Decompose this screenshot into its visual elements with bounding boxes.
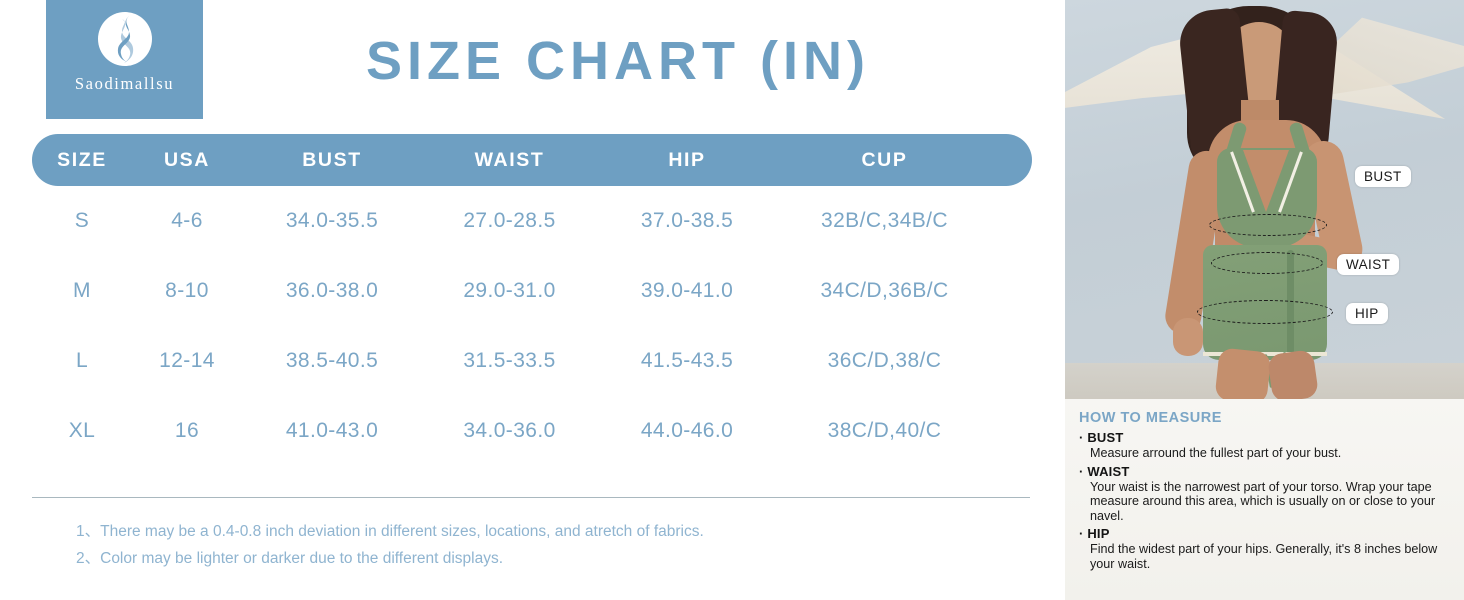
cell-hip: 39.0-41.0 [597, 279, 777, 303]
cell-usa: 4-6 [132, 209, 242, 233]
how-to-measure-section: HOW TO MEASURE · BUST Measure arround th… [1065, 399, 1464, 600]
measure-desc-waist: Your waist is the narrowest part of your… [1090, 480, 1450, 524]
cell-waist: 29.0-31.0 [422, 279, 597, 303]
measure-desc-bust: Measure arround the fullest part of your… [1090, 446, 1450, 461]
footnotes: 1、There may be a 0.4-0.8 inch deviation … [76, 518, 1016, 572]
column-header-bust: BUST [242, 149, 422, 172]
footnote-1: 1、There may be a 0.4-0.8 inch deviation … [76, 518, 1016, 545]
footnote-divider [32, 497, 1030, 498]
column-header-cup: CUP [777, 149, 992, 172]
callout-bust: BUST [1355, 166, 1411, 187]
table-header-row: SIZE USA BUST WAIST HIP CUP [32, 134, 1032, 186]
callout-hip: HIP [1346, 303, 1388, 324]
page-title: SIZE CHART (IN) [203, 28, 1033, 94]
bust-measure-line [1209, 214, 1327, 236]
cell-usa: 8-10 [132, 279, 242, 303]
measure-term-hip: · HIP [1079, 526, 1450, 541]
measure-guide-panel: BUST WAIST HIP HOW TO MEASURE · BUST Mea… [1065, 0, 1464, 600]
cell-cup: 32B/C,34B/C [777, 209, 992, 233]
column-header-usa: USA [132, 149, 242, 172]
table-row: XL 16 41.0-43.0 34.0-36.0 44.0-46.0 38C/… [32, 396, 1032, 466]
table-row: M 8-10 36.0-38.0 29.0-31.0 39.0-41.0 34C… [32, 256, 1032, 326]
waist-measure-line [1211, 252, 1323, 274]
measure-term-waist: · WAIST [1079, 464, 1450, 479]
cell-waist: 34.0-36.0 [422, 419, 597, 443]
hand-left-shape [1173, 318, 1203, 356]
size-chart-panel: Saodimallsu SIZE CHART (IN) SIZE USA BUS… [0, 0, 1065, 600]
cell-size: XL [32, 419, 132, 443]
cell-size: M [32, 279, 132, 303]
column-header-waist: WAIST [422, 149, 597, 172]
model-figure [1065, 0, 1464, 399]
brand-name: Saodimallsu [75, 74, 174, 94]
column-header-hip: HIP [597, 149, 777, 172]
table-row: S 4-6 34.0-35.5 27.0-28.5 37.0-38.5 32B/… [32, 186, 1032, 256]
measure-term-waist-label: WAIST [1087, 464, 1129, 479]
cell-cup: 36C/D,38/C [777, 349, 992, 373]
table-body: S 4-6 34.0-35.5 27.0-28.5 37.0-38.5 32B/… [32, 186, 1032, 466]
measure-term-bust-label: BUST [1087, 430, 1123, 445]
cell-hip: 41.5-43.5 [597, 349, 777, 373]
cell-cup: 34C/D,36B/C [777, 279, 992, 303]
bullet-icon: · [1079, 430, 1084, 445]
cell-size: L [32, 349, 132, 373]
footnote-2: 2、Color may be lighter or darker due to … [76, 545, 1016, 572]
swirl-monogram-icon [96, 10, 154, 68]
size-chart-page: Saodimallsu SIZE CHART (IN) SIZE USA BUS… [0, 0, 1464, 600]
measure-term-bust: · BUST [1079, 430, 1450, 445]
cell-hip: 37.0-38.5 [597, 209, 777, 233]
hip-measure-line [1197, 300, 1333, 324]
cell-hip: 44.0-46.0 [597, 419, 777, 443]
leg-right-shape [1267, 349, 1319, 399]
column-header-size: SIZE [32, 149, 132, 172]
cell-bust: 38.5-40.5 [242, 349, 422, 373]
cell-usa: 16 [132, 419, 242, 443]
cell-size: S [32, 209, 132, 233]
table-row: L 12-14 38.5-40.5 31.5-33.5 41.5-43.5 36… [32, 326, 1032, 396]
model-photo: BUST WAIST HIP [1065, 0, 1464, 399]
size-table: SIZE USA BUST WAIST HIP CUP S 4-6 34.0-3… [32, 134, 1032, 466]
bullet-icon: · [1079, 526, 1084, 541]
callout-waist: WAIST [1337, 254, 1399, 275]
cell-waist: 27.0-28.5 [422, 209, 597, 233]
leg-left-shape [1214, 347, 1271, 399]
bullet-icon: · [1079, 464, 1084, 479]
brand-logo-block: Saodimallsu [46, 0, 203, 119]
how-to-measure-heading: HOW TO MEASURE [1079, 410, 1450, 426]
cell-usa: 12-14 [132, 349, 242, 373]
measure-term-hip-label: HIP [1087, 526, 1109, 541]
cell-cup: 38C/D,40/C [777, 419, 992, 443]
cell-bust: 41.0-43.0 [242, 419, 422, 443]
cell-bust: 34.0-35.5 [242, 209, 422, 233]
cell-waist: 31.5-33.5 [422, 349, 597, 373]
measure-desc-hip: Find the widest part of your hips. Gener… [1090, 542, 1450, 571]
cell-bust: 36.0-38.0 [242, 279, 422, 303]
